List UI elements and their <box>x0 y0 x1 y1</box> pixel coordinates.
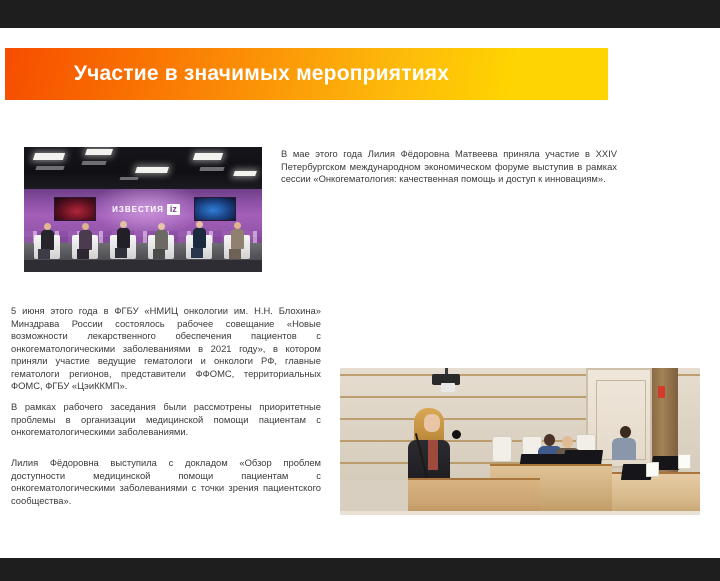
camera-lens <box>441 383 455 392</box>
izvestia-logo: ИЗВЕСТИЯ iz <box>108 202 184 217</box>
ceiling-light <box>193 153 223 160</box>
ceiling-light <box>85 149 113 155</box>
body-paragraph-1: 5 июня этого года в ФГБУ «НМИЦ онкологии… <box>11 305 321 393</box>
slide-title-banner: Участие в значимых мероприятиях <box>5 48 608 100</box>
microphone-head <box>452 430 461 439</box>
speaker-face <box>424 414 440 432</box>
photo-conference-hall <box>340 368 700 515</box>
wall-panel-seam <box>340 418 588 420</box>
hall-paper <box>646 462 659 477</box>
page-title: Участие в значимых мероприятиях <box>74 62 539 86</box>
body-paragraph-3: Лилия Фёдоровна выступила с докладом «Об… <box>11 457 321 507</box>
ceiling-light <box>233 171 257 176</box>
hall-foreground-edge <box>340 511 700 515</box>
ceiling-light <box>120 177 139 180</box>
ceiling-light <box>35 166 64 170</box>
ceiling-light <box>33 153 65 160</box>
speaker-scarf <box>428 440 438 470</box>
viewer-chrome-bottom <box>0 558 720 581</box>
izvestia-logo-badge: iz <box>167 204 180 215</box>
hall-paper <box>678 454 691 469</box>
photo-press-conference: ИЗВЕСТИЯ iz <box>24 147 262 272</box>
slide-canvas: Участие в значимых мероприятиях ИЗВЕСТИЯ… <box>0 28 720 558</box>
ceiling-light <box>135 167 169 173</box>
ceiling-light <box>199 167 224 171</box>
stage-screen-right <box>194 197 236 221</box>
izvestia-logo-word: ИЗВЕСТИЯ <box>112 205 164 214</box>
stage-screen-left <box>54 197 96 221</box>
fire-extinguisher <box>658 386 665 398</box>
hall-chair <box>492 436 512 462</box>
intro-paragraph: В мае этого года Лилия Фёдоровна Матвеев… <box>281 148 617 186</box>
wall-panel-seam <box>340 396 588 398</box>
viewer-chrome-top <box>0 0 720 28</box>
ceiling-light <box>81 161 106 165</box>
stage-front-edge <box>24 260 262 272</box>
speaker-podium <box>408 478 540 515</box>
body-paragraph-2: В рамках рабочего заседания были рассмот… <box>11 401 321 439</box>
